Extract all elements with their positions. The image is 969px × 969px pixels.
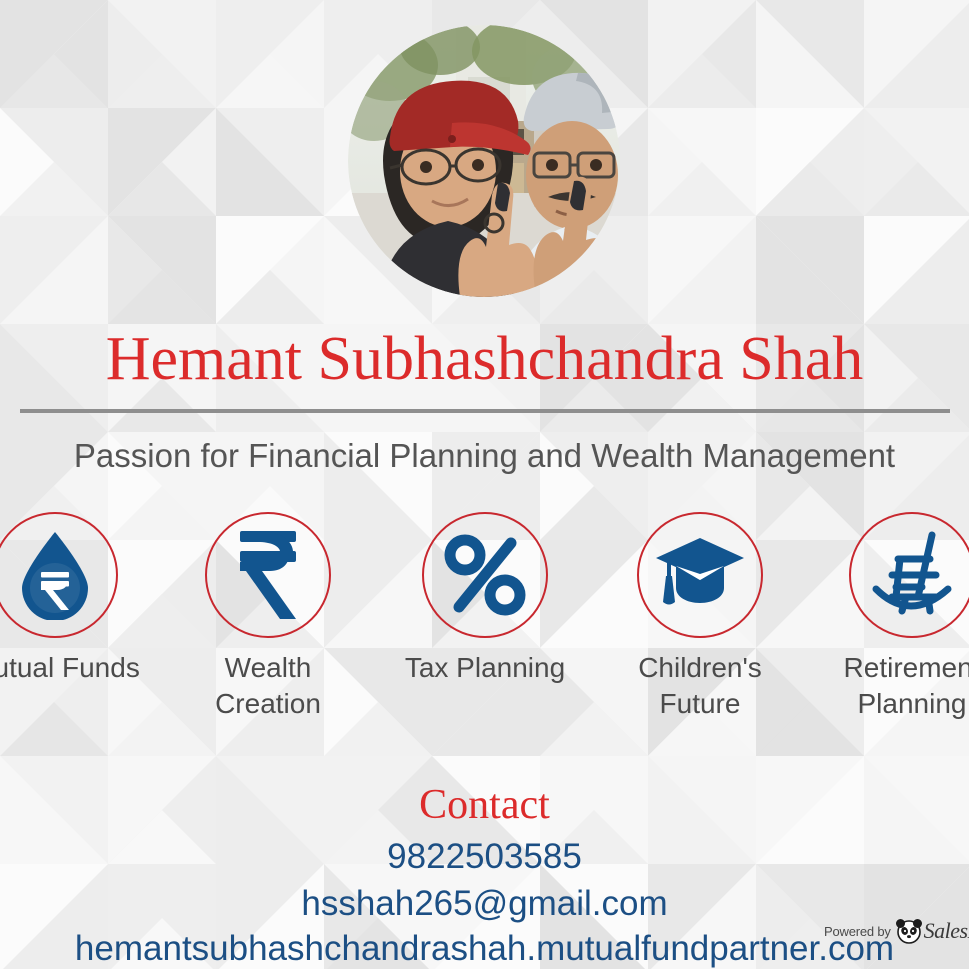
service-circle bbox=[205, 512, 331, 638]
service-item-tax-planning[interactable]: Tax Planning bbox=[395, 512, 575, 686]
service-label: Retirement Planning bbox=[822, 650, 969, 722]
powered-by-watermark: Powered by SalesPanda bbox=[824, 918, 969, 944]
service-label: Wealth Creation bbox=[178, 650, 358, 722]
service-item-wealth-creation[interactable]: Wealth Creation bbox=[178, 512, 358, 722]
rocking-chair-icon bbox=[866, 531, 958, 619]
panda-icon bbox=[896, 918, 922, 944]
title-divider bbox=[20, 409, 950, 413]
profile-photo bbox=[348, 25, 620, 297]
rupee-drop-icon bbox=[16, 530, 94, 620]
service-label: Tax Planning bbox=[395, 650, 575, 686]
tagline: Passion for Financial Planning and Wealt… bbox=[0, 435, 969, 477]
powered-by-label: Powered by bbox=[824, 924, 891, 939]
service-item-mutual-funds[interactable]: Mutual Funds bbox=[0, 512, 145, 686]
page-title: Hemant Subhashchandra Shah bbox=[0, 322, 969, 396]
service-item-childrens-future[interactable]: Children's Future bbox=[610, 512, 790, 722]
service-circle bbox=[422, 512, 548, 638]
service-circle bbox=[849, 512, 969, 638]
rupee-symbol-icon bbox=[232, 529, 304, 621]
service-label: Mutual Funds bbox=[0, 650, 145, 686]
percent-icon bbox=[441, 531, 529, 619]
graduation-cap-icon bbox=[654, 536, 746, 614]
services-row: Mutual Funds Wealth Creation bbox=[0, 512, 969, 742]
contact-heading: Contact bbox=[0, 780, 969, 830]
service-item-retirement-planning[interactable]: Retirement Planning bbox=[822, 512, 969, 722]
service-circle bbox=[0, 512, 118, 638]
contact-phone[interactable]: 9822503585 bbox=[0, 836, 969, 878]
brand-name: SalesPanda bbox=[924, 918, 969, 944]
service-label: Children's Future bbox=[610, 650, 790, 722]
business-card-poster: Hemant Subhashchandra Shah Passion for F… bbox=[0, 0, 969, 969]
service-circle bbox=[637, 512, 763, 638]
